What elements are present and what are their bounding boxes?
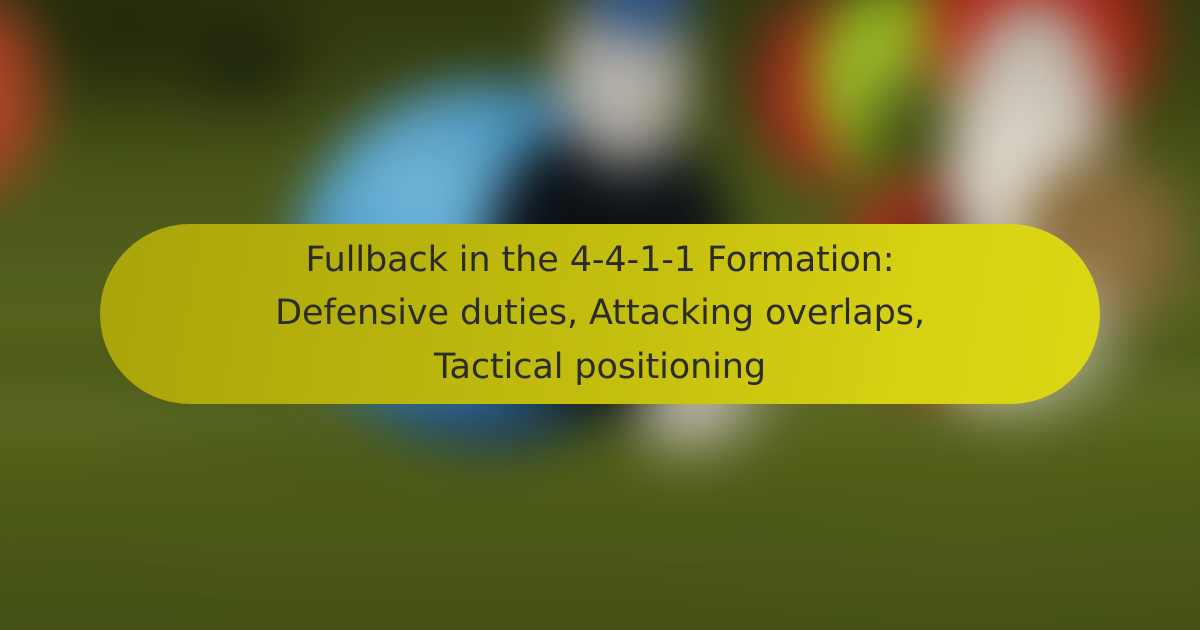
grass-tuft xyxy=(188,18,308,113)
title-pill: Fullback in the 4-4-1-1 Formation: Defen… xyxy=(100,224,1100,404)
banner-card: Fullback in the 4-4-1-1 Formation: Defen… xyxy=(0,0,1200,630)
page-title: Fullback in the 4-4-1-1 Formation: Defen… xyxy=(230,234,970,394)
